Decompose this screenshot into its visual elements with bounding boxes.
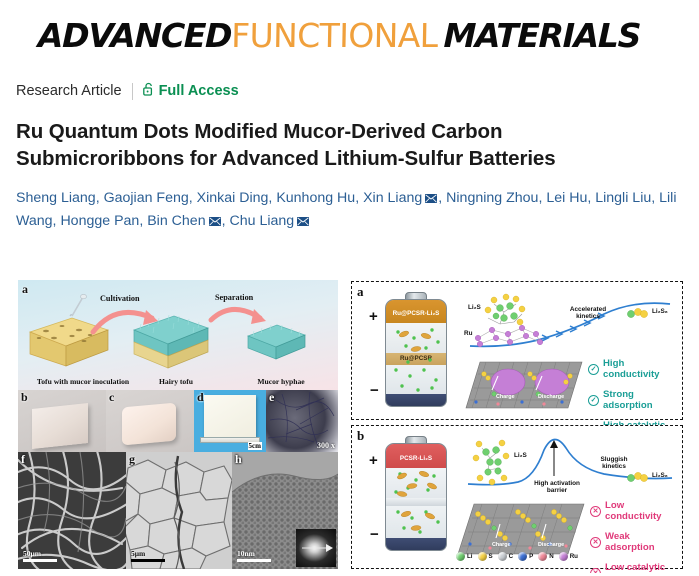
author-link[interactable]: Gaojian Feng: [104, 190, 189, 206]
legend-item-ru: Ru: [559, 552, 578, 561]
cross-icon: ✕: [590, 537, 601, 548]
label-li2s8-b: Li₂S₈: [652, 472, 668, 479]
battery-b: PCSR-Li₂S: [385, 443, 447, 551]
panel-e-magnification-label: 300 x: [317, 441, 335, 450]
author-link[interactable]: Lei Hu: [546, 190, 587, 206]
title-line-2: Submicroribbons for Advanced Lithium-Sul…: [16, 147, 556, 170]
author-link[interactable]: Kunhong Hu: [276, 190, 355, 206]
legend-item-s: S: [478, 552, 493, 561]
label-li2s8-a: Li₂S₈: [652, 308, 668, 315]
author-link[interactable]: Bin Chen: [147, 213, 205, 229]
panel-label-a: a: [22, 282, 28, 297]
battery-a: Ru@PCSR-Li₂S Ru@PCSR: [385, 299, 447, 407]
check-icon: ✓: [588, 395, 599, 406]
figure-row: a: [0, 277, 699, 576]
panel-g-scale-bar: [131, 559, 165, 562]
panel-h-hrtem-image[interactable]: 10nm h: [232, 452, 338, 569]
cross-icon: ✕: [590, 568, 601, 574]
label-accelerated-kinetics: Accelerated kinetics: [564, 306, 612, 321]
mechanism-panel-label-a: a: [357, 284, 364, 300]
panel-f-sem-image[interactable]: 50μm f: [18, 452, 126, 569]
bullet-low-catalytic-activation: ✕ Low catalytic activation: [590, 562, 682, 573]
title-line-1: Ru Quantum Dots Modified Mucor-Derived C…: [16, 120, 502, 143]
battery-b-species-dots: [386, 444, 447, 551]
sluggish-kinetics-line1: Sluggish: [601, 456, 628, 463]
battery-b-positive-terminal: +: [369, 452, 378, 469]
polysulfide-product-a: [624, 306, 650, 320]
hairy-tofu-photo-object: [122, 403, 176, 446]
cultivation-label: Cultivation: [100, 294, 140, 303]
cultivation-arrow-icon: [90, 304, 160, 338]
author-link[interactable]: Ningning Zhou: [446, 190, 538, 206]
vertical-divider: [132, 83, 133, 100]
legend-item-n: N: [538, 552, 553, 561]
accelerated-kinetics-line1: Accelerated: [570, 306, 606, 313]
access-status-label: Full Access: [159, 83, 239, 99]
battery-a-positive-terminal: +: [369, 308, 378, 325]
panel-c-photo[interactable]: c: [106, 390, 194, 452]
panel-g-tem-image[interactable]: 5μm g: [126, 452, 232, 569]
panel-d-scale-label: 5cm: [248, 442, 262, 450]
bullet-weak-adsorption: ✕ Weak adsorption: [590, 531, 682, 553]
logo-materials-text: MATERIALS: [443, 16, 640, 55]
author-link[interactable]: Sheng Liang: [16, 190, 96, 206]
panel-label-e: e: [269, 390, 274, 405]
label-li2s-b: Li₂S: [514, 452, 527, 459]
bullet-text: Weak adsorption: [605, 531, 682, 553]
sluggish-kinetics-line2: kinetics: [602, 463, 626, 470]
activation-barrier-line1: High activation: [534, 480, 580, 487]
panel-h-scale-bar: [237, 559, 271, 562]
bullet-high-conductivity: ✓ High conductivity: [588, 358, 682, 380]
panel-label-f: f: [21, 452, 25, 467]
mechanism-panel-a: a Ru@PCSR-Li₂S Ru@PCSR: [351, 281, 683, 420]
legend-color-swatch: [456, 552, 465, 561]
legend-color-swatch: [518, 552, 527, 561]
polysulfide-product-b: [624, 470, 650, 484]
caption-hairy-tofu: Hairy tofu: [136, 377, 216, 386]
slab-b-charge-label: Charge: [492, 542, 511, 548]
slab-illustration-b: [456, 498, 588, 560]
bullet-text: High conductivity: [603, 358, 682, 380]
panel-label-c: c: [109, 390, 114, 405]
legend-item-p: P: [518, 552, 533, 561]
micrograph-row-fgh: 50μm f: [18, 452, 338, 569]
tofu-photo-object: [32, 403, 88, 449]
bullet-text: Low catalytic activation: [605, 562, 682, 573]
check-icon: ✓: [588, 364, 599, 375]
panel-label-g: g: [129, 452, 135, 467]
corresponding-author-envelope-icon[interactable]: [297, 211, 309, 220]
corresponding-author-envelope-icon[interactable]: [209, 211, 221, 220]
slab-b-discharge-label: Discharge: [538, 542, 564, 548]
slab-illustration-a: [464, 356, 586, 414]
battery-a-negative-terminal: −: [370, 382, 379, 399]
battery-b-negative-terminal: −: [370, 526, 379, 543]
legend-label: C: [509, 553, 513, 560]
author-link[interactable]: Xin Liang: [363, 190, 422, 206]
mechanism-panel-label-b: b: [357, 428, 364, 444]
label-activation-barrier: High activation barrier: [528, 480, 586, 495]
bullet-strong-adsorption: ✓ Strong adsorption: [588, 389, 682, 411]
legend-color-swatch: [478, 552, 487, 561]
drawbacks-list-b: ✕ Low conductivity ✕ Weak adsorption ✕ L…: [590, 500, 682, 573]
author-link[interactable]: Xinkai Ding: [197, 190, 269, 206]
legend-label: Ru: [570, 553, 578, 560]
panel-a-schematic: a: [18, 280, 338, 390]
author-link[interactable]: Hongge Pan: [60, 213, 139, 229]
author-link[interactable]: Lingli Liu: [595, 190, 651, 206]
element-color-legend: LiSCPNRu: [456, 552, 578, 561]
legend-label: S: [489, 553, 493, 560]
journal-logo[interactable]: ADVANCEDFUNCTIONALMATERIALS: [38, 19, 641, 52]
legend-color-swatch: [559, 552, 568, 561]
legend-label: P: [529, 553, 533, 560]
panel-e-micrograph[interactable]: 300 x e: [266, 390, 338, 452]
legend-label: N: [549, 553, 553, 560]
mechanism-panel-b: b PCSR-Li₂S: [351, 425, 683, 569]
li2s-cluster-a: [470, 292, 552, 354]
panel-g-scale-label: 5μm: [131, 549, 145, 558]
figure-left-synthesis[interactable]: a: [18, 280, 338, 569]
li2s-cluster-b: [464, 438, 526, 494]
saed-diffraction-inset: [296, 529, 336, 567]
panel-d-photo[interactable]: 5cm d: [194, 390, 266, 452]
bullet-text: Strong adsorption: [603, 389, 682, 411]
hyphae-sheet-object: [204, 395, 256, 437]
label-li2s-a: Li₂S: [468, 304, 481, 311]
page-title: Ru Quantum Dots Modified Mucor-Derived C…: [16, 118, 616, 172]
separation-label: Separation: [215, 293, 253, 302]
corresponding-author-envelope-icon[interactable]: [425, 188, 437, 197]
legend-item-li: Li: [456, 552, 473, 561]
label-sluggish-kinetics: Sluggish kinetics: [592, 456, 636, 471]
article-type-bar: Research Article Full Access: [16, 82, 699, 100]
battery-a-species-dots: [386, 300, 447, 407]
panel-h-scale-label: 10nm: [237, 549, 255, 558]
author-link[interactable]: Chu Liang: [229, 213, 294, 229]
slab-a-discharge-label: Discharge: [538, 394, 564, 400]
logo-functional-text: FUNCTIONAL: [231, 16, 438, 55]
legend-color-swatch: [538, 552, 547, 561]
panel-f-scale-label: 50μm: [23, 549, 41, 558]
panel-label-b: b: [21, 390, 28, 405]
bullet-low-conductivity: ✕ Low conductivity: [590, 500, 682, 522]
photo-row-bcde: b c 5cm d: [18, 390, 338, 452]
activation-barrier-line2: barrier: [547, 487, 567, 494]
panel-label-d: d: [197, 390, 204, 405]
legend-item-c: C: [498, 552, 513, 561]
accelerated-kinetics-line2: kinetics: [576, 313, 600, 320]
logo-advanced-text: ADVANCED: [38, 16, 232, 55]
panel-f-scale-bar: [23, 559, 57, 562]
article-type-label: Research Article: [16, 83, 122, 99]
legend-label: Li: [467, 553, 473, 560]
journal-masthead: ADVANCEDFUNCTIONALMATERIALS: [0, 0, 699, 62]
bullet-text: Low conductivity: [605, 500, 682, 522]
panel-b-photo[interactable]: b: [18, 390, 106, 452]
label-ru-a: Ru: [464, 330, 473, 337]
legend-color-swatch: [498, 552, 507, 561]
separation-arrow-icon: [208, 302, 270, 336]
caption-mucor-hyphae: Mucor hyphae: [238, 377, 324, 386]
access-status-group: Full Access: [143, 82, 239, 100]
author-list: Sheng Liang, Gaojian Feng, Xinkai Ding, …: [16, 187, 681, 233]
unlock-icon: [143, 82, 154, 100]
slab-a-charge-label: Charge: [496, 394, 515, 400]
caption-tofu-inoculation: Tofu with mucor inoculation: [22, 377, 144, 386]
pipette-icon: [70, 294, 88, 318]
cross-icon: ✕: [590, 506, 601, 517]
panel-label-h: h: [235, 452, 242, 467]
figure-right-mechanism[interactable]: a Ru@PCSR-Li₂S Ru@PCSR: [347, 277, 687, 573]
